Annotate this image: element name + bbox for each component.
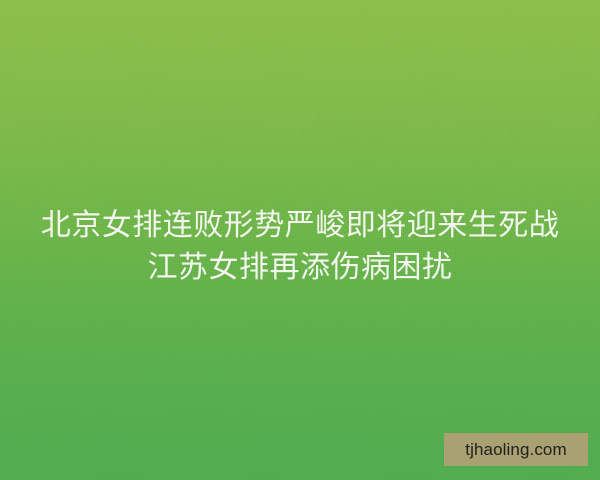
news-banner-image: 北京女排连败形势严峻即将迎来生死战 江苏女排再添伤病困扰 tjhaoling.c…: [0, 0, 600, 480]
watermark-badge: tjhaoling.com: [444, 433, 588, 466]
headline-line-1: 北京女排连败形势严峻即将迎来生死战: [0, 205, 600, 247]
headline-line-2: 江苏女排再添伤病困扰: [0, 247, 600, 289]
watermark-site-label: tjhaoling.com: [465, 441, 566, 458]
headline-overlay: 北京女排连败形势严峻即将迎来生死战 江苏女排再添伤病困扰: [0, 205, 600, 289]
